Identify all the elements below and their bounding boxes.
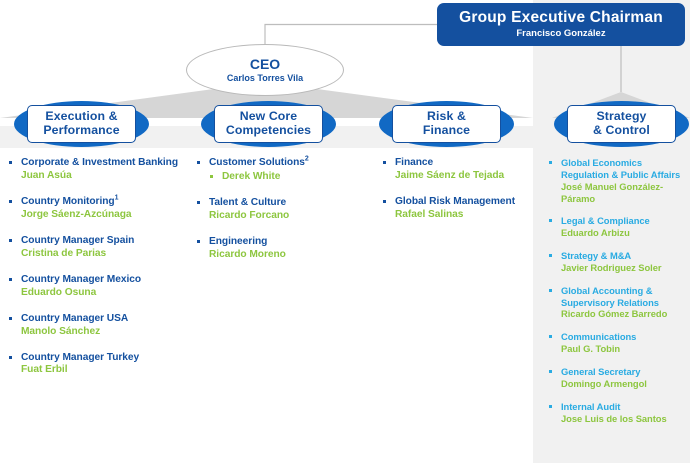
bullet-icon [9, 278, 12, 281]
org-entry[interactable]: Country Manager SpainCristina de Parias [8, 235, 190, 261]
division-entries-new-core-competencies: Customer Solutions2Derek WhiteTalent & C… [196, 157, 376, 262]
ceo-name: Carlos Torres Vila [227, 74, 303, 83]
org-entry-footnote-marker: 1 [115, 195, 119, 202]
org-entry[interactable]: CommunicationsPaul G. Tobin [548, 331, 690, 355]
chairman-name: Francisco González [516, 29, 605, 39]
bullet-icon [210, 175, 213, 178]
org-entry-person: Jaime Sáenz de Tejada [395, 170, 542, 183]
ceo-title: CEO [250, 57, 280, 72]
org-entry-title: Finance [395, 157, 542, 170]
org-entry[interactable]: Talent & CultureRicardo Forcano [196, 197, 376, 223]
bullet-icon [9, 317, 12, 320]
org-entry-title: Legal & Compliance [561, 215, 690, 227]
org-entry[interactable]: Country Manager USAManolo Sánchez [8, 313, 190, 339]
org-entry[interactable]: Country Manager TurkeyFuat Erbil [8, 352, 190, 378]
org-entry-title: Global Economics Regulation & Public Aff… [561, 157, 690, 181]
org-entry-title: Country Manager Spain [21, 235, 190, 248]
division-entries-risk-finance: FinanceJaime Sáenz de TejadaGlobal Risk … [382, 157, 542, 222]
org-entry[interactable]: Global Risk ManagementRafael Salinas [382, 196, 542, 222]
org-entry[interactable]: Internal AuditJose Luis de los Santos [548, 401, 690, 425]
org-entry[interactable]: Country Monitoring1Jorge Sáenz-Azcúnaga [8, 196, 190, 222]
org-entry-person: Cristina de Parias [21, 248, 190, 261]
division-head-risk-finance[interactable]: Risk & Finance [379, 101, 514, 147]
org-entry-person: Rafael Salinas [395, 209, 542, 222]
org-entry-person: Ricardo Forcano [209, 210, 376, 223]
org-entry-person: José Manuel González-Páramo [561, 181, 690, 205]
org-entry[interactable]: Corporate & Investment BankingJuan Asúa [8, 157, 190, 183]
org-entry-title: General Secretary [561, 366, 690, 378]
division-label: Execution & Performance [43, 110, 119, 138]
org-entry-person: Paul G. Tobin [561, 343, 690, 355]
org-entry-person: Eduardo Osuna [21, 287, 190, 300]
division-plate: Risk & Finance [392, 105, 501, 143]
org-entry-person: Fuat Erbil [21, 364, 190, 377]
bullet-icon [197, 240, 200, 243]
division-plate: Execution & Performance [27, 105, 136, 143]
org-entry-title: Engineering [209, 236, 376, 249]
org-entry-person: Derek White [222, 171, 376, 184]
org-entry[interactable]: EngineeringRicardo Moreno [196, 236, 376, 262]
division-plate: New Core Competencies [214, 105, 323, 143]
org-entry[interactable]: General SecretaryDomingo Armengol [548, 366, 690, 390]
division-label: Risk & Finance [423, 110, 470, 138]
org-entry[interactable]: Customer Solutions2Derek White [196, 157, 376, 184]
chairman-box[interactable]: Group Executive Chairman Francisco Gonzá… [437, 3, 685, 46]
division-label: Strategy & Control [593, 110, 650, 138]
org-entry-title: Talent & Culture [209, 197, 376, 210]
org-entry-person: Ricardo Moreno [209, 249, 376, 262]
bullet-icon [549, 254, 552, 257]
bullet-icon [549, 219, 552, 222]
org-entry-title: Country Monitoring1 [21, 196, 190, 209]
org-entry-title: Global Accounting & Supervisory Relation… [561, 285, 690, 309]
org-entry-person: Juan Asúa [21, 170, 190, 183]
org-entry-person: Ricardo Gómez Barredo [561, 308, 690, 320]
org-entry-footnote-marker: 2 [305, 156, 309, 163]
org-entry[interactable]: Legal & ComplianceEduardo Arbizu [548, 215, 690, 239]
bullet-icon [9, 356, 12, 359]
bullet-icon [383, 161, 386, 164]
org-entry-title: Global Risk Management [395, 196, 542, 209]
bullet-icon [549, 335, 552, 338]
org-entry-person: Manolo Sánchez [21, 326, 190, 339]
bullet-icon [549, 289, 552, 292]
bullet-icon [383, 200, 386, 203]
org-entry[interactable]: Global Economics Regulation & Public Aff… [548, 157, 690, 204]
division-head-strategy-control[interactable]: Strategy & Control [554, 101, 689, 147]
org-entry-title: Country Manager USA [21, 313, 190, 326]
division-entries-execution-performance: Corporate & Investment BankingJuan AsúaC… [8, 157, 190, 377]
bullet-icon [9, 239, 12, 242]
bullet-icon [549, 370, 552, 373]
bullet-icon [197, 161, 200, 164]
org-entry-person: Jose Luis de los Santos [561, 413, 690, 425]
org-entry[interactable]: Strategy & M&AJavier Rodriguez Soler [548, 250, 690, 274]
org-entry-title: Customer Solutions2 [209, 157, 376, 170]
org-entry-title: Internal Audit [561, 401, 690, 413]
org-entry-person: Javier Rodriguez Soler [561, 262, 690, 274]
bullet-icon [9, 161, 12, 164]
bullet-icon [9, 200, 12, 203]
org-entry-person: Domingo Armengol [561, 378, 690, 390]
bullet-icon [549, 405, 552, 408]
division-head-execution-performance[interactable]: Execution & Performance [14, 101, 149, 147]
division-entries-strategy-control: Global Economics Regulation & Public Aff… [548, 157, 690, 435]
ceo-node[interactable]: CEO Carlos Torres Vila [186, 44, 344, 96]
bullet-icon [549, 161, 552, 164]
org-entry-title: Corporate & Investment Banking [21, 157, 190, 170]
division-head-new-core-competencies[interactable]: New Core Competencies [201, 101, 336, 147]
org-entry-person: Eduardo Arbizu [561, 227, 690, 239]
chairman-title: Group Executive Chairman [459, 10, 663, 26]
org-entry[interactable]: FinanceJaime Sáenz de Tejada [382, 157, 542, 183]
division-plate: Strategy & Control [567, 105, 676, 143]
org-entry[interactable]: Global Accounting & Supervisory Relation… [548, 285, 690, 321]
org-chart: Group Executive Chairman Francisco Gonzá… [0, 0, 690, 463]
org-entry-person-row: Derek White [209, 171, 376, 184]
division-label: New Core Competencies [226, 110, 311, 138]
org-entry-title: Strategy & M&A [561, 250, 690, 262]
org-entry-person: Jorge Sáenz-Azcúnaga [21, 209, 190, 222]
bullet-icon [197, 201, 200, 204]
org-entry-title: Country Manager Mexico [21, 274, 190, 287]
org-entry[interactable]: Country Manager MexicoEduardo Osuna [8, 274, 190, 300]
org-entry-title: Country Manager Turkey [21, 352, 190, 365]
org-entry-title: Communications [561, 331, 690, 343]
